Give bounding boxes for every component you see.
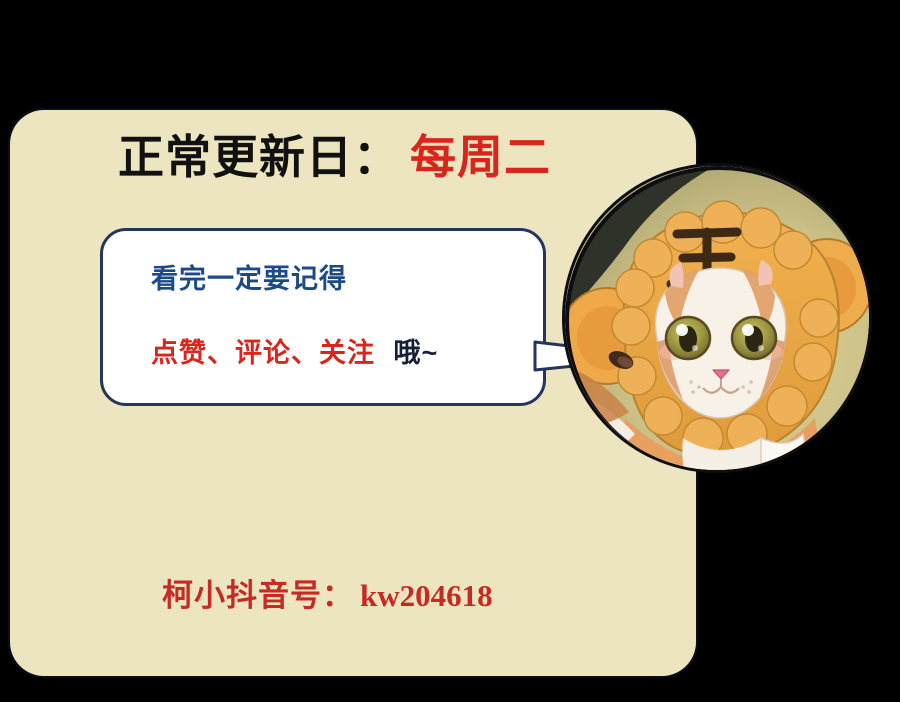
speech-bubble-line-2: 点赞、评论、关注 哦~ [151, 331, 438, 370]
cat-avatar-illustration [565, 166, 872, 473]
speech-bubble: 看完一定要记得 点赞、评论、关注 哦~ [100, 228, 546, 406]
speech-bubble-line-1: 看完一定要记得 [151, 257, 347, 296]
douyin-account-label: 柯小抖音号： [162, 580, 354, 611]
screenshot-canvas: 正常更新日： 每周二 看完一定要记得 点赞、评论、关注 哦~ 柯小抖音号： kw… [0, 0, 900, 702]
avatar [562, 163, 872, 473]
douyin-account-line: 柯小抖音号： kw204618 [162, 580, 493, 611]
update-day-title: 正常更新日： 每周二 [118, 134, 551, 180]
call-to-action-suffix: 哦~ [394, 338, 439, 368]
update-day-label: 正常更新日： [118, 134, 400, 180]
update-day-value: 每周二 [410, 134, 551, 180]
call-to-action-text: 点赞、评论、关注 [151, 338, 375, 368]
douyin-account-value: kw204618 [360, 580, 493, 611]
